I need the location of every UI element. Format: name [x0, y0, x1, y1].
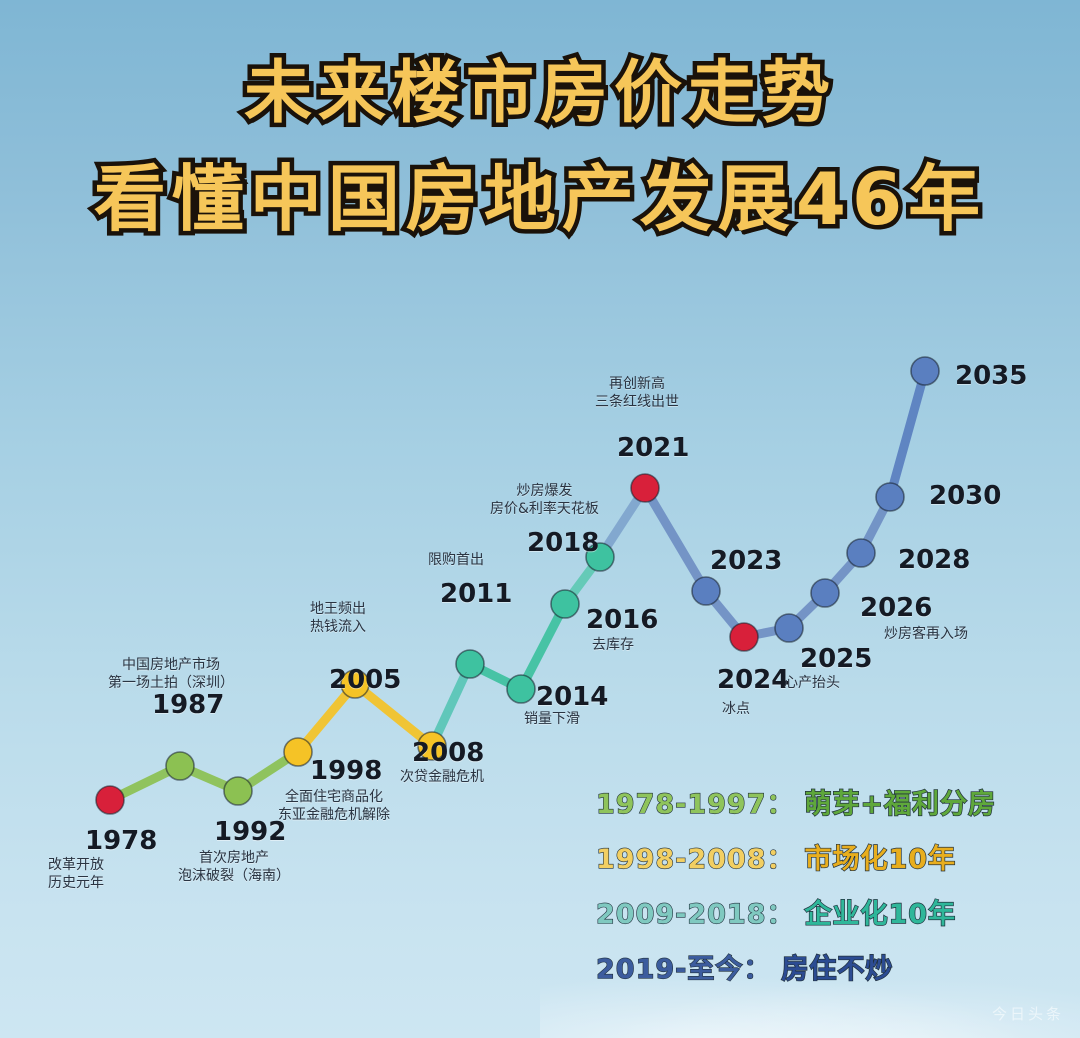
data-point-2016[interactable] — [551, 590, 579, 618]
data-point-2011[interactable] — [456, 650, 484, 678]
data-point-2028[interactable] — [847, 539, 875, 567]
data-point-2014[interactable] — [507, 675, 535, 703]
line-segment — [645, 488, 706, 591]
legend-range: 1978-1997： — [596, 782, 795, 821]
data-point-1978[interactable] — [96, 786, 124, 814]
note-label-2025: 心产抬头 — [784, 674, 840, 692]
data-point-2026[interactable] — [811, 579, 839, 607]
legend-range: 2009-2018： — [596, 892, 795, 931]
year-label-1987: 1987 — [152, 690, 224, 720]
data-point-1992[interactable] — [224, 777, 252, 805]
year-label-1992: 1992 — [214, 817, 286, 847]
line-segments — [110, 371, 925, 800]
phase-legend: 1978-1997： 萌芽+福利分房 1998-2008： 市场化10年 200… — [596, 782, 1016, 1002]
year-label-1998: 1998 — [310, 756, 382, 786]
year-label-2011: 2011 — [440, 579, 512, 609]
note-label-2014: 销量下滑 — [524, 710, 580, 728]
legend-label: 市场化10年 — [805, 837, 957, 876]
note-label-2016: 去库存 — [592, 636, 634, 654]
year-label-2025: 2025 — [800, 644, 872, 674]
year-label-2005: 2005 — [329, 665, 401, 695]
year-label-2026: 2026 — [860, 593, 932, 623]
year-label-2018: 2018 — [527, 528, 599, 558]
data-point-2024[interactable] — [730, 623, 758, 651]
legend-row: 1998-2008： 市场化10年 — [596, 837, 1016, 876]
year-label-2021: 2021 — [617, 433, 689, 463]
data-point-2021[interactable] — [631, 474, 659, 502]
data-point-1987[interactable] — [166, 752, 194, 780]
year-label-2016: 2016 — [586, 605, 658, 635]
data-point-markers — [96, 357, 939, 814]
legend-label: 企业化10年 — [805, 892, 957, 931]
year-label-2024: 2024 — [717, 665, 789, 695]
year-label-2030: 2030 — [929, 481, 1001, 511]
year-label-2035: 2035 — [955, 361, 1027, 391]
note-label-1992: 首次房地产 泡沫破裂（海南） — [178, 849, 290, 885]
note-label-2024: 冰点 — [722, 700, 750, 718]
note-label-2005: 地王频出 热钱流入 — [310, 600, 366, 636]
year-label-2014: 2014 — [536, 682, 608, 712]
data-point-2030[interactable] — [876, 483, 904, 511]
note-label-1998: 全面住宅商品化 东亚金融危机解除 — [278, 788, 390, 824]
note-label-2026: 炒房客再入场 — [884, 625, 968, 643]
note-label-2008: 次贷金融危机 — [400, 768, 484, 786]
note-label-1987: 中国房地产市场 第一场土拍（深圳） — [108, 656, 234, 692]
year-label-2023: 2023 — [710, 546, 782, 576]
note-label-2011: 限购首出 — [428, 551, 484, 569]
data-point-2035[interactable] — [911, 357, 939, 385]
line-segment — [890, 371, 925, 497]
legend-row: 2009-2018： 企业化10年 — [596, 892, 1016, 931]
legend-label: 萌芽+福利分房 — [805, 782, 997, 821]
year-label-1978: 1978 — [85, 826, 157, 856]
data-point-2025[interactable] — [775, 614, 803, 642]
note-label-2021: 再创新高 三条红线出世 — [595, 375, 679, 411]
note-label-2018: 炒房爆发 房价&利率天花板 — [490, 482, 599, 518]
year-label-2028: 2028 — [898, 545, 970, 575]
data-point-1998[interactable] — [284, 738, 312, 766]
legend-row: 2019-至今： 房住不炒 — [596, 947, 1016, 986]
legend-row: 1978-1997： 萌芽+福利分房 — [596, 782, 1016, 821]
year-label-2008: 2008 — [412, 738, 484, 768]
data-point-2023[interactable] — [692, 577, 720, 605]
watermark: 今日头条 — [992, 1003, 1064, 1024]
legend-range: 1998-2008： — [596, 837, 795, 876]
legend-range: 2019-至今： — [596, 947, 771, 986]
note-label-1978: 改革开放 历史元年 — [48, 856, 104, 892]
legend-label: 房住不炒 — [781, 947, 893, 986]
